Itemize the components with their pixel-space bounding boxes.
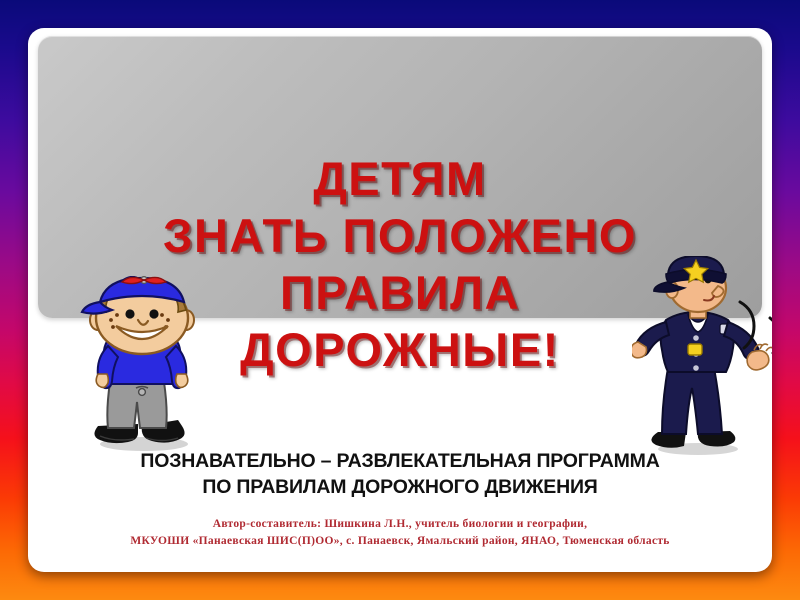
subtitle-line-2: ПО ПРАВИЛАМ ДОРОЖНОГО ДВИЖЕНИЯ (28, 474, 772, 500)
slide-white-card: ДЕТЯМ ЗНАТЬ ПОЛОЖЕНО ПРАВИЛА ДОРОЖНЫЕ! П… (28, 28, 772, 572)
cartoon-boy-character (76, 276, 208, 452)
cartoon-policeman-character (632, 256, 772, 456)
credit-line-institution: МКУОШИ «Панаевская ШИС(П)ОО», с. Панаевс… (28, 533, 772, 550)
slide-canvas: ДЕТЯМ ЗНАТЬ ПОЛОЖЕНО ПРАВИЛА ДОРОЖНЫЕ! П… (0, 0, 800, 600)
credit-line-author: Автор-составитель: Шишкина Л.Н., учитель… (28, 516, 772, 533)
author-credits: Автор-составитель: Шишкина Л.Н., учитель… (28, 516, 772, 550)
